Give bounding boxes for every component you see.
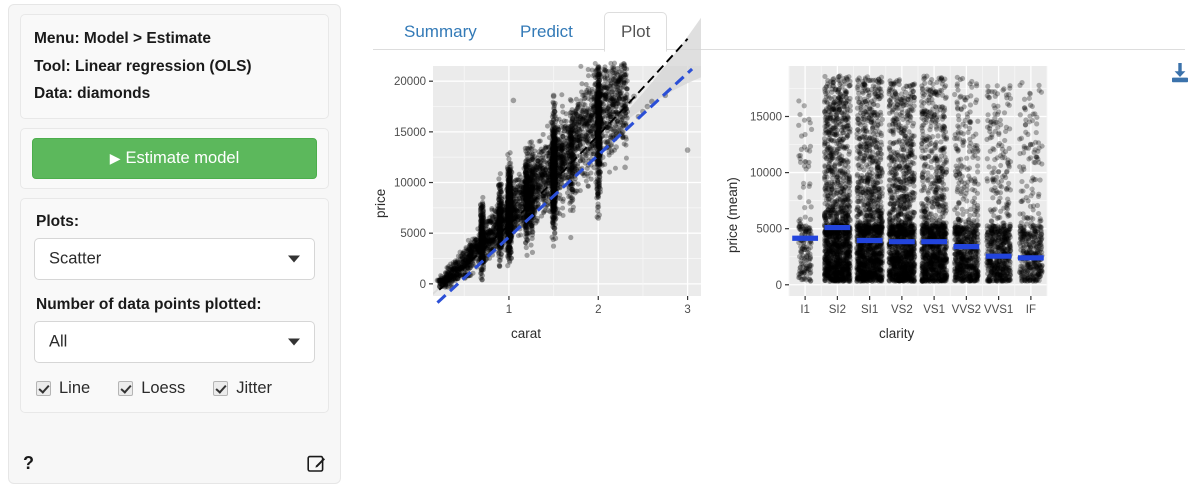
plots-label: Plots: [36, 213, 315, 230]
sidebar: Menu: Model > Estimate Tool: Linear regr… [8, 4, 341, 484]
plots-select[interactable]: Scatter [34, 238, 315, 280]
checkbox-line[interactable]: Line [36, 379, 90, 398]
estimate-model-button[interactable]: ▶Estimate model [32, 138, 317, 180]
edit-square-icon[interactable] [307, 454, 326, 473]
npoints-select-value: All [49, 333, 67, 352]
chart-clarity-price-xlabel: clarity [879, 326, 914, 341]
chart-carat-price-xlabel: carat [511, 326, 541, 341]
chevron-down-icon [288, 256, 300, 263]
help-icon[interactable]: ? [23, 454, 34, 472]
plot-toggles: Line Loess Jitter [36, 379, 315, 398]
chart-clarity-price-svg: 050001000015000I1SI2SI1VS2VS1VVS2VVS1IF [711, 58, 1061, 353]
download-icon[interactable] [1169, 62, 1191, 84]
plot-output-area: 05000100001500020000123 price carat 0500… [355, 58, 1055, 358]
checkbox-line-label: Line [59, 379, 90, 398]
chart-carat-price-ylabel: price [373, 189, 388, 218]
npoints-label: Number of data points plotted: [36, 296, 315, 313]
checkbox-loess-label: Loess [141, 379, 185, 398]
checkbox-jitter-label: Jitter [236, 379, 272, 398]
chart-clarity-price-ylabel: price (mean) [725, 177, 740, 253]
app-root: Menu: Model > Estimate Tool: Linear regr… [0, 0, 1197, 488]
checkbox-loess-box[interactable] [118, 381, 133, 396]
tab-predict[interactable]: Predict [503, 12, 590, 52]
sidebar-footer: ? [9, 449, 340, 477]
plots-select-value: Scatter [49, 250, 101, 269]
info-data: Data: diamonds [34, 86, 315, 102]
checkbox-jitter[interactable]: Jitter [213, 379, 272, 398]
tab-summary[interactable]: Summary [387, 12, 494, 52]
checkbox-loess[interactable]: Loess [118, 379, 185, 398]
checkbox-jitter-box[interactable] [213, 381, 228, 396]
checkbox-line-box[interactable] [36, 381, 51, 396]
tab-plot[interactable]: Plot [604, 12, 667, 52]
info-tool: Tool: Linear regression (OLS) [34, 59, 315, 75]
main-content: Summary Predict Plot [341, 0, 1197, 488]
estimate-panel: ▶Estimate model [20, 128, 329, 190]
npoints-select[interactable]: All [34, 321, 315, 363]
plot-options-panel: Plots: Scatter Number of data points plo… [20, 198, 329, 413]
tab-bar: Summary Predict Plot [373, 6, 1185, 50]
info-menu: Menu: Model > Estimate [34, 31, 315, 47]
play-icon: ▶ [110, 150, 121, 166]
chart-clarity-price: 050001000015000I1SI2SI1VS2VS1VVS2VVS1IF … [711, 58, 1061, 353]
estimate-model-label: Estimate model [126, 149, 240, 167]
chevron-down-icon [288, 339, 300, 346]
chart-carat-price-svg: 05000100001500020000123 [361, 58, 711, 353]
chart-carat-price: 05000100001500020000123 price carat [361, 58, 711, 353]
model-info-panel: Menu: Model > Estimate Tool: Linear regr… [20, 14, 329, 119]
